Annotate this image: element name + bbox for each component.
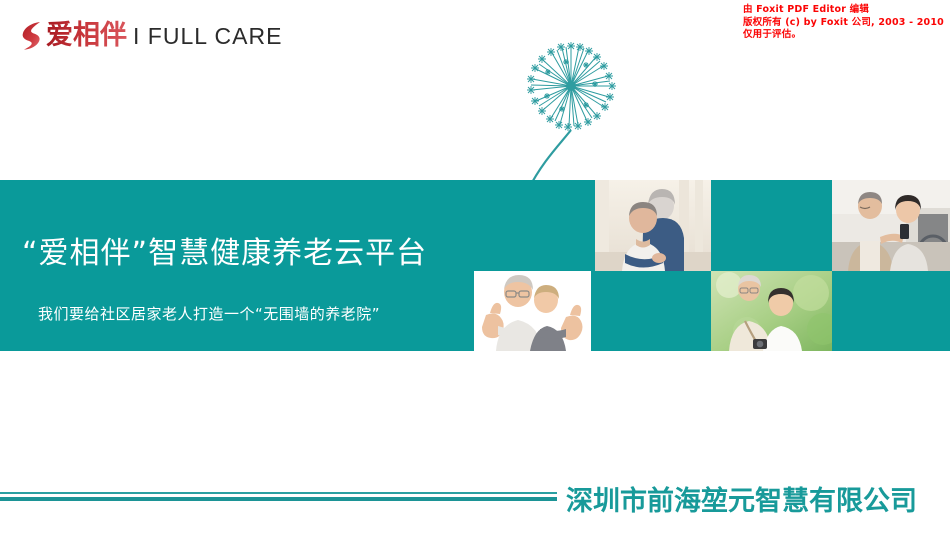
photo-couple-smartphone: [832, 180, 950, 271]
watermark-line-3: 仅用于评估。: [743, 29, 944, 42]
photo-thumbs-up-couple: [474, 271, 591, 351]
logo-english-name: I FULL CARE: [133, 20, 282, 52]
foxit-watermark: 由 Foxit PDF Editor 编辑 版权所有 (c) by Foxit …: [743, 4, 944, 42]
footer-divider-line-top: [0, 492, 557, 494]
company-name: 深圳市前海堃元智慧有限公司: [566, 479, 917, 518]
photo-couple-outdoors: [711, 271, 832, 351]
watermark-line-1: 由 Foxit PDF Editor 编辑: [743, 4, 944, 17]
dandelion-icon: [500, 38, 640, 190]
slide-canvas: 爱相伴 I FULL CARE 由 Foxit PDF Editor 编辑 版权…: [0, 0, 950, 535]
footer-divider-line-bottom: [0, 497, 557, 501]
brand-logo[interactable]: 爱相伴 I FULL CARE: [18, 18, 282, 54]
logo-chinese-name: 爱相伴: [46, 20, 127, 52]
photo-elderly-couple-embrace: [595, 180, 711, 271]
footer-divider: [0, 492, 557, 502]
page-subtitle: 我们要给社区居家老人打造一个“无围墙的养老院”: [38, 303, 380, 324]
page-title: “爱相伴”智慧健康养老云平台: [22, 228, 427, 272]
ribbon-s-icon: [18, 20, 44, 52]
watermark-line-2: 版权所有 (c) by Foxit 公司, 2003 - 2010: [743, 17, 944, 30]
